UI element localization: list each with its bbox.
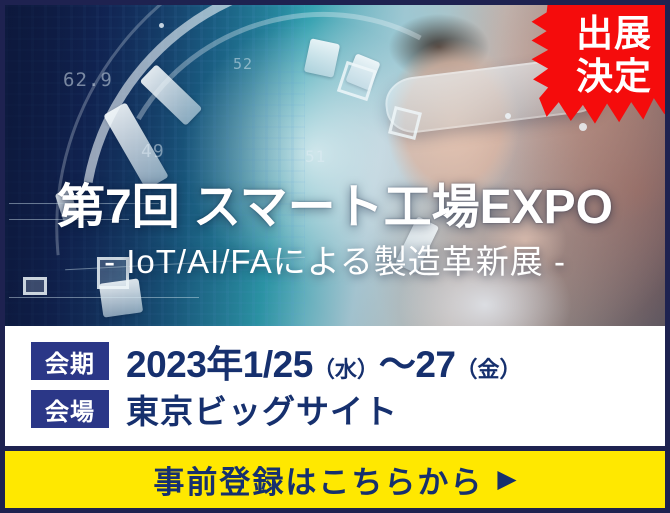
event-banner[interactable]: 62.9 49 51 52 出展 決定 第7回 スマート工場EXPO - IoT… [0, 0, 670, 513]
venue-value: 東京ビッグサイト [126, 385, 398, 433]
period-label: 会期 [31, 342, 109, 380]
venue-label: 会場 [31, 390, 109, 428]
period-date-end: 〜27 [379, 344, 456, 385]
hud-readout-0: 62.9 [63, 69, 113, 91]
event-subtitle: - IoT/AI/FAによる製造革新展 - [5, 244, 665, 280]
period-weekday-end: （金） [456, 357, 522, 382]
event-info-panel: 会期 2023年1/25（水）〜27（金） 会場 東京ビッグサイト [5, 326, 665, 446]
event-title: 第7回 スマート工場EXPO [5, 183, 665, 234]
hero-image: 62.9 49 51 52 出展 決定 第7回 スマート工場EXPO - IoT… [5, 5, 665, 326]
hud-dot [159, 23, 164, 28]
hud-dot [579, 123, 587, 131]
hud-readout-3: 52 [233, 55, 253, 73]
preregister-label: 事前登録はこちらから [153, 457, 483, 502]
period-row: 会期 2023年1/25（水）〜27（金） [31, 337, 665, 385]
period-value: 2023年1/25（水）〜27（金） [126, 334, 522, 388]
status-badge: 出展 決定 [558, 13, 665, 99]
hud-line [9, 297, 199, 298]
venue-row: 会場 東京ビッグサイト [31, 385, 665, 433]
preregister-button[interactable]: 事前登録はこちらから ▶ [5, 446, 665, 508]
badge-line-2: 決定 [558, 56, 665, 99]
title-block: 第7回 スマート工場EXPO - IoT/AI/FAによる製造革新展 - [5, 183, 665, 280]
hud-readout-1: 49 [141, 141, 165, 162]
period-weekday-start: （水） [313, 357, 379, 382]
hud-dot [505, 113, 511, 119]
arrow-right-icon: ▶ [497, 467, 516, 492]
period-date-start: 2023年1/25 [126, 344, 313, 385]
badge-line-1: 出展 [558, 13, 665, 56]
hud-readout-2: 51 [305, 147, 326, 166]
